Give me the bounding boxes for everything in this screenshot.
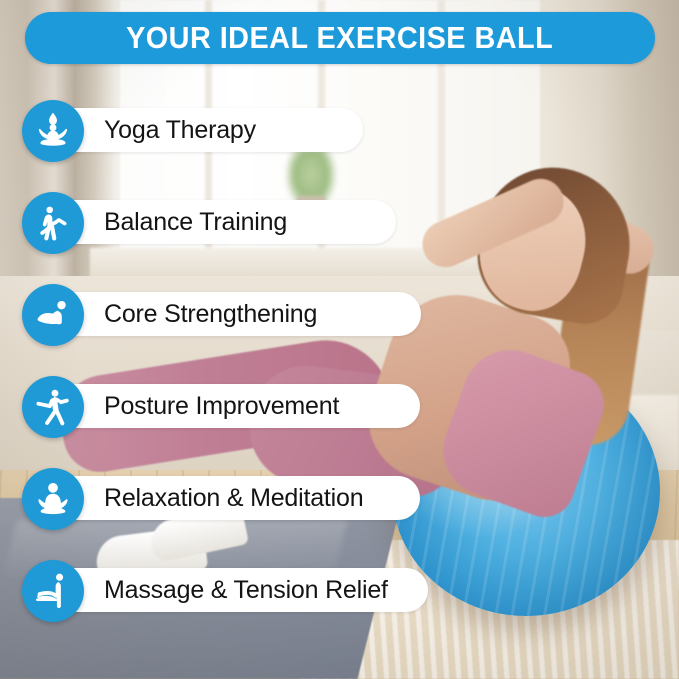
- feature-label: Posture Improvement: [104, 392, 339, 421]
- page-title: YOUR IDEAL EXERCISE BALL: [126, 20, 553, 56]
- feature-label: Core Strengthening: [104, 300, 317, 329]
- balance-tree-pose-icon: [22, 192, 84, 254]
- feature-label-pill: Balance Training: [58, 200, 396, 244]
- feature-label-pill: Posture Improvement: [58, 384, 420, 428]
- meditation-lotus-icon: [22, 468, 84, 530]
- massage-therapy-icon: [22, 560, 84, 622]
- feature-label: Yoga Therapy: [104, 116, 256, 145]
- feature-row: Posture Improvement: [0, 372, 679, 464]
- feature-label-pill: Core Strengthening: [58, 292, 421, 336]
- feature-label: Massage & Tension Relief: [104, 576, 388, 605]
- header-banner: YOUR IDEAL EXERCISE BALL: [25, 12, 655, 64]
- yoga-lotus-arms-up-icon: [22, 100, 84, 162]
- feature-row: Massage & Tension Relief: [0, 556, 679, 648]
- feature-label-pill: Relaxation & Meditation: [58, 476, 420, 520]
- feature-row: Relaxation & Meditation: [0, 464, 679, 556]
- feature-label: Relaxation & Meditation: [104, 484, 363, 513]
- sit-up-crunch-icon: [22, 284, 84, 346]
- feature-label-pill: Massage & Tension Relief: [58, 568, 428, 612]
- warrior-pose-icon: [22, 376, 84, 438]
- feature-list: Yoga Therapy Balance Training Core St: [0, 96, 679, 648]
- feature-label: Balance Training: [104, 208, 287, 237]
- feature-row: Balance Training: [0, 188, 679, 280]
- feature-label-pill: Yoga Therapy: [58, 108, 363, 152]
- feature-row: Yoga Therapy: [0, 96, 679, 188]
- feature-row: Core Strengthening: [0, 280, 679, 372]
